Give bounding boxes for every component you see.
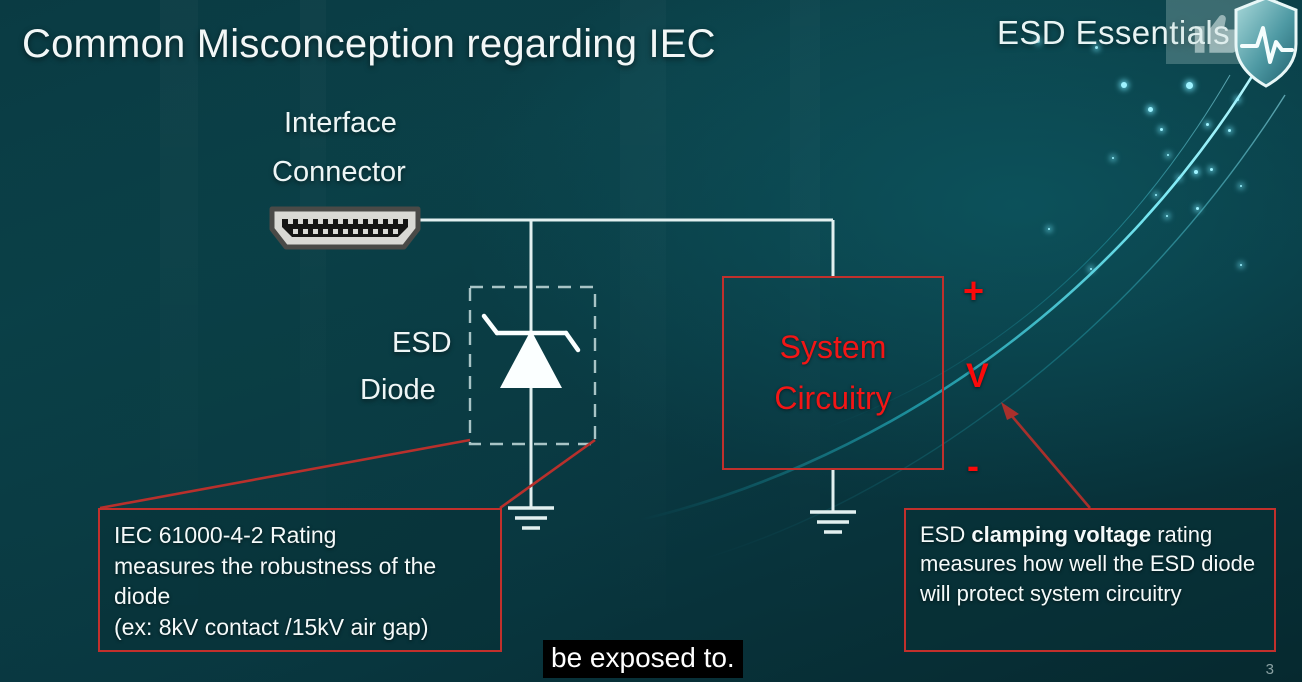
callout-left-line4: (ex: 8kV contact /15kV air gap) (114, 612, 486, 643)
interface-connector-label-line1: Interface (284, 107, 397, 140)
ground-symbol-icon-2 (810, 512, 856, 532)
esd-diode-label-line1: ESD (392, 327, 452, 360)
callout-right-bold: clamping voltage (971, 522, 1151, 547)
callout-right-prefix: ESD (920, 522, 971, 547)
polarity-voltage-label: V (966, 357, 989, 396)
system-circuitry-box: System Circuitry (722, 276, 944, 470)
system-circuitry-line1: System (724, 322, 942, 373)
hdmi-connector-icon (266, 205, 424, 251)
slide-canvas: Common Misconception regarding IEC ESD E… (0, 0, 1302, 682)
system-circuitry-line2: Circuitry (724, 373, 942, 424)
callout-left-line3: diode (114, 581, 486, 612)
polarity-minus-label: - (967, 445, 979, 487)
video-caption: be exposed to. (543, 640, 743, 678)
ground-symbol-icon (508, 508, 554, 528)
callout-iec-rating: IEC 61000-4-2 Rating measures the robust… (98, 508, 502, 652)
callout-clamping-voltage: ESD clamping voltage rating measures how… (904, 508, 1276, 652)
esd-diode-label-line2: Diode (360, 374, 436, 407)
callout-left-line1: IEC 61000-4-2 Rating (114, 520, 486, 551)
interface-connector-label-line2: Connector (272, 156, 406, 189)
system-circuitry-text: System Circuitry (724, 322, 942, 424)
callout-left-line2: measures the robustness of the (114, 551, 486, 582)
page-number: 3 (1266, 661, 1274, 678)
polarity-plus-label: + (963, 270, 984, 312)
